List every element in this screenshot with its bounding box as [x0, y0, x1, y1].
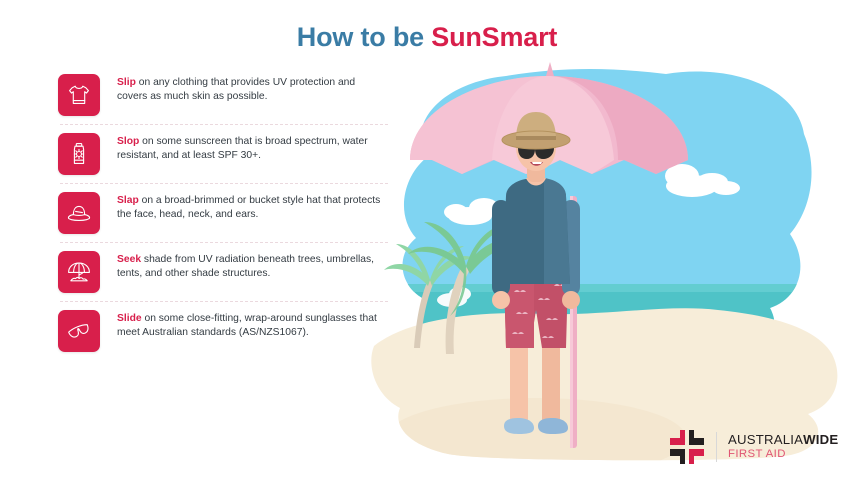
logo-divider	[716, 432, 717, 462]
sunscreen-tube-icon	[58, 133, 100, 175]
tip-keyword: Seek	[117, 254, 141, 265]
shirt-icon	[58, 74, 100, 116]
tip-slap-text: Slap on a broad-brimmed or bucket style …	[117, 192, 388, 221]
list-item: Slide on some close-fitting, wrap-around…	[58, 302, 388, 360]
tip-keyword: Slip	[117, 77, 136, 88]
australia-wide-first-aid-logo: AUSTRALIAWIDE FIRST AID	[668, 428, 838, 466]
infographic-page: How to be SunSmart Slip on any clothing …	[0, 0, 854, 480]
tip-slip: Slip on any clothing that provides UV pr…	[58, 74, 388, 116]
australia-wide-cross-logo	[668, 428, 706, 466]
tip-keyword: Slop	[117, 136, 139, 147]
tip-body: on some sunscreen that is broad spectrum…	[117, 136, 368, 161]
beach-umbrella-icon	[58, 251, 100, 293]
tip-seek-text: Seek shade from UV radiation beneath tre…	[117, 251, 388, 280]
logo-australia-text: AUSTRALIA	[728, 432, 803, 447]
tip-body: on any clothing that provides UV protect…	[117, 77, 355, 102]
list-item: Slap on a broad-brimmed or bucket style …	[58, 184, 388, 242]
list-item: Seek shade from UV radiation beneath tre…	[58, 243, 388, 301]
tip-seek: Seek shade from UV radiation beneath tre…	[58, 251, 388, 293]
logo-line-secondary: FIRST AID	[728, 448, 838, 461]
tip-slide: Slide on some close-fitting, wrap-around…	[58, 310, 388, 352]
tip-slide-text: Slide on some close-fitting, wrap-around…	[117, 310, 388, 339]
tip-slap: Slap on a broad-brimmed or bucket style …	[58, 192, 388, 234]
list-item: Slop on some sunscreen that is broad spe…	[58, 125, 388, 183]
sunsmart-tips-list: Slip on any clothing that provides UV pr…	[58, 66, 388, 360]
sunglasses-icon	[58, 310, 100, 352]
logo-wordmark: AUSTRALIAWIDE FIRST AID	[728, 433, 838, 461]
list-item: Slip on any clothing that provides UV pr…	[58, 66, 388, 124]
logo-line-primary: AUSTRALIAWIDE	[728, 433, 838, 448]
tip-slop: Slop on some sunscreen that is broad spe…	[58, 133, 388, 175]
tip-keyword: Slide	[117, 313, 142, 324]
tip-body: on some close-fitting, wrap-around sungl…	[117, 313, 377, 338]
tip-keyword: Slap	[117, 195, 139, 206]
tip-slip-text: Slip on any clothing that provides UV pr…	[117, 74, 388, 103]
tip-body: shade from UV radiation beneath trees, u…	[117, 254, 374, 279]
tip-slop-text: Slop on some sunscreen that is broad spe…	[117, 133, 388, 162]
bucket-hat-icon	[58, 192, 100, 234]
logo-wide-text: WIDE	[803, 432, 838, 447]
beach-scene-illustration	[366, 48, 854, 480]
tip-body: on a broad-brimmed or bucket style hat t…	[117, 195, 380, 220]
